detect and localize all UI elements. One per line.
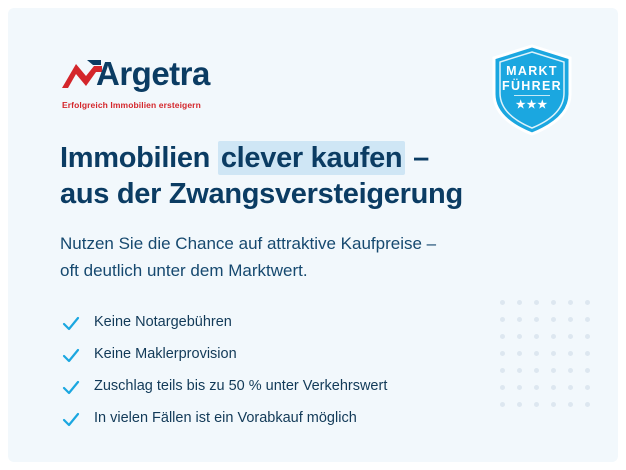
grid-dot — [585, 351, 590, 356]
grid-dot — [585, 368, 590, 373]
headline: Immobilien clever kaufen – aus der Zwang… — [60, 140, 580, 212]
list-item: Keine Maklerprovision — [60, 338, 560, 370]
grid-dot — [517, 300, 522, 305]
badge-line-1: MARKT — [490, 64, 574, 78]
grid-dot — [568, 385, 573, 390]
grid-dot — [585, 402, 590, 407]
badge-line-2: FÜHRER — [490, 79, 574, 93]
list-item-label: Zuschlag teils bis zu 50 % unter Verkehr… — [94, 378, 387, 394]
list-item: Keine Notargebühren — [60, 306, 560, 338]
grid-dot — [585, 300, 590, 305]
badge-divider — [514, 95, 550, 96]
headline-line-2: aus der Zwangsversteigerung — [60, 176, 580, 212]
check-icon — [62, 345, 80, 363]
check-icon — [62, 377, 80, 395]
headline-highlight: clever kaufen — [218, 141, 406, 175]
grid-dot — [585, 317, 590, 322]
check-icon — [62, 313, 80, 331]
headline-line-1-after: – — [405, 142, 429, 174]
grid-dot — [500, 300, 505, 305]
grid-dot — [568, 334, 573, 339]
grid-dot — [568, 300, 573, 305]
promo-card: Argetra Erfolgreich Immobilien ersteiger… — [8, 8, 618, 462]
subheadline: Nutzen Sie die Chance auf attraktive Kau… — [60, 230, 590, 284]
promo-card-canvas: Argetra Erfolgreich Immobilien ersteiger… — [0, 0, 626, 470]
badge-stars: ★★★ — [490, 98, 574, 111]
list-item: In vielen Fällen ist ein Vorabkauf mögli… — [60, 402, 560, 434]
brand-logo[interactable]: Argetra Erfolgreich Immobilien ersteiger… — [60, 52, 260, 122]
grid-dot — [585, 334, 590, 339]
headline-line-1-before: Immobilien — [60, 142, 218, 174]
grid-dot — [551, 300, 556, 305]
grid-dot — [585, 385, 590, 390]
logo-row: Argetra — [60, 52, 260, 96]
subheadline-line-1: Nutzen Sie die Chance auf attraktive Kau… — [60, 230, 590, 257]
logo-tagline: Erfolgreich Immobilien ersteigern — [62, 100, 201, 110]
headline-line-1: Immobilien clever kaufen – — [60, 140, 580, 176]
list-item: Zuschlag teils bis zu 50 % unter Verkehr… — [60, 370, 560, 402]
benefits-list: Keine Notargebühren Keine Maklerprovisio… — [60, 306, 560, 434]
grid-dot — [568, 368, 573, 373]
check-icon — [62, 409, 80, 427]
grid-dot — [568, 351, 573, 356]
grid-dot — [568, 402, 573, 407]
list-item-label: Keine Notargebühren — [94, 314, 232, 330]
marktfuehrer-badge: MARKT FÜHRER ★★★ — [490, 44, 574, 136]
subheadline-line-2: oft deutlich unter dem Marktwert. — [60, 257, 590, 284]
grid-dot — [568, 317, 573, 322]
grid-dot — [534, 300, 539, 305]
list-item-label: Keine Maklerprovision — [94, 346, 237, 362]
list-item-label: In vielen Fällen ist ein Vorabkauf mögli… — [94, 410, 357, 426]
logo-wordmark: Argetra — [96, 52, 210, 96]
